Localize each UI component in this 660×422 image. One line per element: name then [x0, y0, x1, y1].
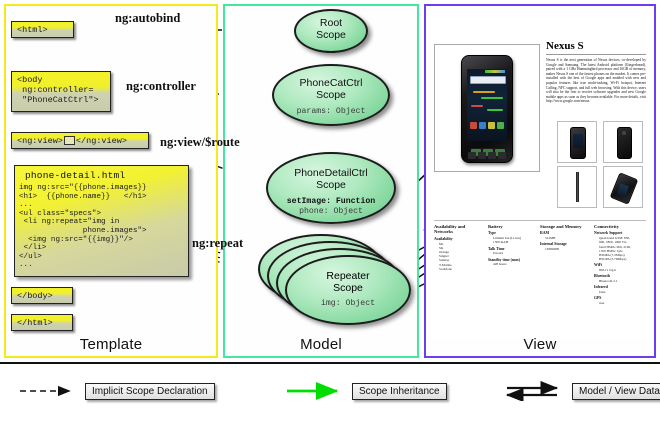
product-description: Nexus S is the next generation of Nexus …: [546, 58, 646, 104]
spec-column-connectivity: Connectivity Network Support Quad-band G…: [594, 224, 648, 305]
phone-screen: [467, 69, 507, 141]
phone-statusbar-icon: [485, 70, 505, 73]
code-box-html-close: </html>: [11, 314, 73, 331]
spec-value: Bluetooth 2.1: [594, 279, 648, 283]
spec-value: 16384MB: [540, 247, 592, 251]
scope-phonedetailctrl-title-1: PhoneDetailCtrl: [268, 168, 394, 180]
spec-heading: Storage and Memory: [540, 224, 592, 229]
app-icon-3: [488, 122, 495, 129]
rendered-page: Nexus S Nexus S is the next generation o…: [430, 16, 650, 338]
diagram-canvas: Template <html> <body ng:controller= "Ph…: [0, 0, 660, 420]
spec-value: 428 hours: [488, 262, 536, 266]
legend-label-inheritance: Scope Inheritance: [352, 383, 447, 400]
thumbnail-angle[interactable]: [603, 166, 643, 208]
phone-btn-search: [498, 152, 506, 159]
phone-edge-icon: [576, 172, 579, 202]
scope-repeater-title-1: Repeater: [287, 271, 409, 283]
scope-phonedetailctrl-prop-phone: phone: Object: [268, 207, 394, 217]
ngview-placeholder-icon: [64, 136, 75, 145]
phone-widget-line-1: [473, 91, 495, 93]
ngview-open-tag: <ng:view>: [17, 136, 63, 146]
spec-value: HSUPA (5.76Mbps): [594, 257, 648, 261]
phone-hero-image: [461, 55, 513, 163]
scope-root: Root Scope: [294, 9, 368, 53]
spec-value: 6 hours: [488, 251, 536, 255]
phone-widget-line-4: [487, 109, 503, 111]
spec-value: 1500 mAH: [488, 240, 536, 244]
scope-phonedetailctrl-prop-setimage: setImage: Function: [268, 197, 394, 207]
app-icon-4: [497, 122, 504, 129]
spec-value: Vodafone: [434, 267, 480, 271]
app-icon-1: [470, 122, 477, 129]
thumbnail-front[interactable]: [557, 121, 597, 163]
spec-table: Availability and Networks Availability M…: [434, 224, 646, 310]
label-ng-repeat: ng:repeat: [192, 236, 243, 251]
spec-column-battery: Battery Type Lithium Ion (Li-Ion) 1500 m…: [488, 224, 536, 267]
phone-angle-icon: [610, 172, 639, 205]
scope-phonedetailctrl-title-2: Scope: [268, 180, 394, 192]
code-box-body-close: </body>: [11, 287, 73, 304]
scope-root-title-2: Scope: [296, 30, 366, 42]
phone-app-dock: [470, 122, 504, 131]
dashed-arrow-icon: [18, 381, 80, 401]
phone-btn-home: [488, 152, 496, 159]
spec-value: true: [594, 301, 648, 305]
green-arrow-icon: [285, 381, 347, 401]
scope-phonedetailctrl: PhoneDetailCtrl Scope setImage: Function…: [266, 152, 396, 224]
title-divider: [546, 54, 646, 55]
spec-value: false: [594, 290, 648, 294]
scope-phonecatctrl-title-1: PhoneCatCtrl: [274, 78, 388, 90]
phone-widget-line-2: [481, 97, 503, 99]
scope-root-title-1: Root: [296, 18, 366, 30]
phone-widget-line-3: [471, 105, 483, 107]
legend-item-databinding: Model / View Data-binding: [505, 380, 660, 402]
model-panel-label: Model: [225, 336, 417, 353]
scope-phonecatctrl: PhoneCatCtrl Scope params: Object: [272, 64, 390, 126]
scope-phonecatctrl-title-2: Scope: [274, 90, 388, 102]
template-panel-label: Template: [6, 336, 216, 353]
label-ng-view-route: ng:view/$route: [160, 135, 240, 150]
partial-template-note: phone-detail.html img ng:src="{{phone.im…: [14, 165, 189, 277]
spec-heading: Connectivity: [594, 224, 648, 229]
scope-repeater-stack: Repeater Scope img: Object: [258, 234, 418, 336]
legend-label-databinding: Model / View Data-binding: [572, 383, 660, 400]
label-ng-autobind: ng:autobind: [115, 11, 180, 26]
legend-item-inheritance: Scope Inheritance: [285, 380, 447, 402]
partial-filename: phone-detail.html: [15, 166, 188, 183]
phone-btn-menu: [478, 152, 486, 159]
scope-repeater-title-2: Scope: [287, 283, 409, 295]
legend: Implicit Scope Declaration Scope Inherit…: [0, 362, 660, 422]
scope-phonecatctrl-prop-params: params: Object: [274, 107, 388, 117]
app-icon-2: [479, 122, 486, 129]
partial-code: img ng:src="{{phone.images}} <h1> {{phon…: [15, 183, 188, 270]
spec-column-storage: Storage and Memory RAM 512MB Internal St…: [540, 224, 592, 251]
view-panel-label: View: [426, 336, 654, 353]
scope-repeater-prop-img: img: Object: [287, 299, 409, 309]
spec-column-availability: Availability and Networks Availability M…: [434, 224, 480, 271]
phone-search-widget: [470, 76, 506, 84]
phone-btn-back: [468, 152, 476, 159]
code-box-body-open: <body ng:controller= "PhoneCatCtrl">: [11, 71, 111, 112]
spec-value: 512MB: [540, 236, 592, 240]
ngview-close-tag: </ng:view>: [76, 136, 127, 146]
spec-heading: Availability and Networks: [434, 224, 480, 235]
thumbnail-back[interactable]: [603, 121, 643, 163]
phone-button-row: [468, 152, 506, 159]
thumbnail-edge[interactable]: [557, 166, 597, 208]
phone-back-icon: [617, 127, 632, 159]
hero-image-frame: [434, 44, 540, 172]
code-box-html-open: <html>: [11, 21, 74, 38]
product-title: Nexus S: [546, 40, 584, 52]
phone-front-icon: [570, 127, 586, 159]
legend-label-implicit: Implicit Scope Declaration: [85, 383, 215, 400]
scope-repeater: Repeater Scope img: Object: [285, 255, 411, 325]
spec-divider: [434, 220, 646, 221]
label-ng-controller: ng:controller: [126, 79, 196, 94]
legend-item-implicit: Implicit Scope Declaration: [18, 380, 215, 402]
spec-heading: Battery: [488, 224, 536, 229]
double-arrow-icon: [505, 381, 567, 401]
code-box-ngview: <ng:view></ng:view>: [11, 132, 149, 149]
spec-value: 802.11 b/g/n: [594, 268, 648, 272]
